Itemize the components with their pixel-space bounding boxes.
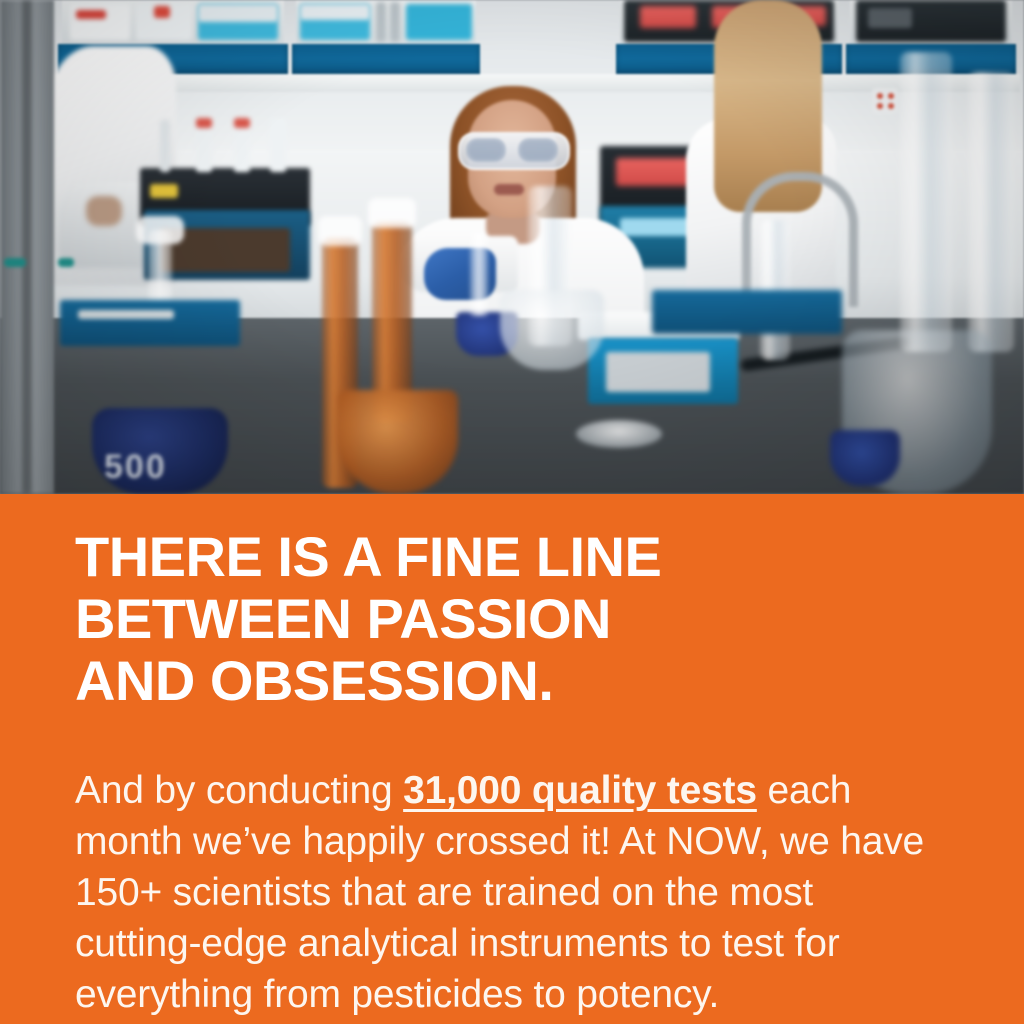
emphasis-quality-tests: 31,000 quality tests xyxy=(403,769,757,812)
headline: THERE IS A FINE LINE BETWEEN PASSION AND… xyxy=(75,526,955,712)
headline-line-3: AND OBSESSION. xyxy=(75,650,955,712)
orange-panel: THERE IS A FINE LINE BETWEEN PASSION AND… xyxy=(0,494,1024,1024)
body-paragraph: And by conducting 31,000 quality tests e… xyxy=(75,765,941,1020)
headline-line-2: BETWEEN PASSION xyxy=(75,588,955,650)
body-before: And by conducting xyxy=(75,769,403,812)
headline-line-1: THERE IS A FINE LINE xyxy=(75,526,955,588)
lab-photo: 500 xyxy=(0,0,1024,494)
photo-vignette xyxy=(0,0,1024,494)
promo-canvas: 500 THERE IS A FINE LINE BETWEEN PASSION… xyxy=(0,0,1024,1024)
